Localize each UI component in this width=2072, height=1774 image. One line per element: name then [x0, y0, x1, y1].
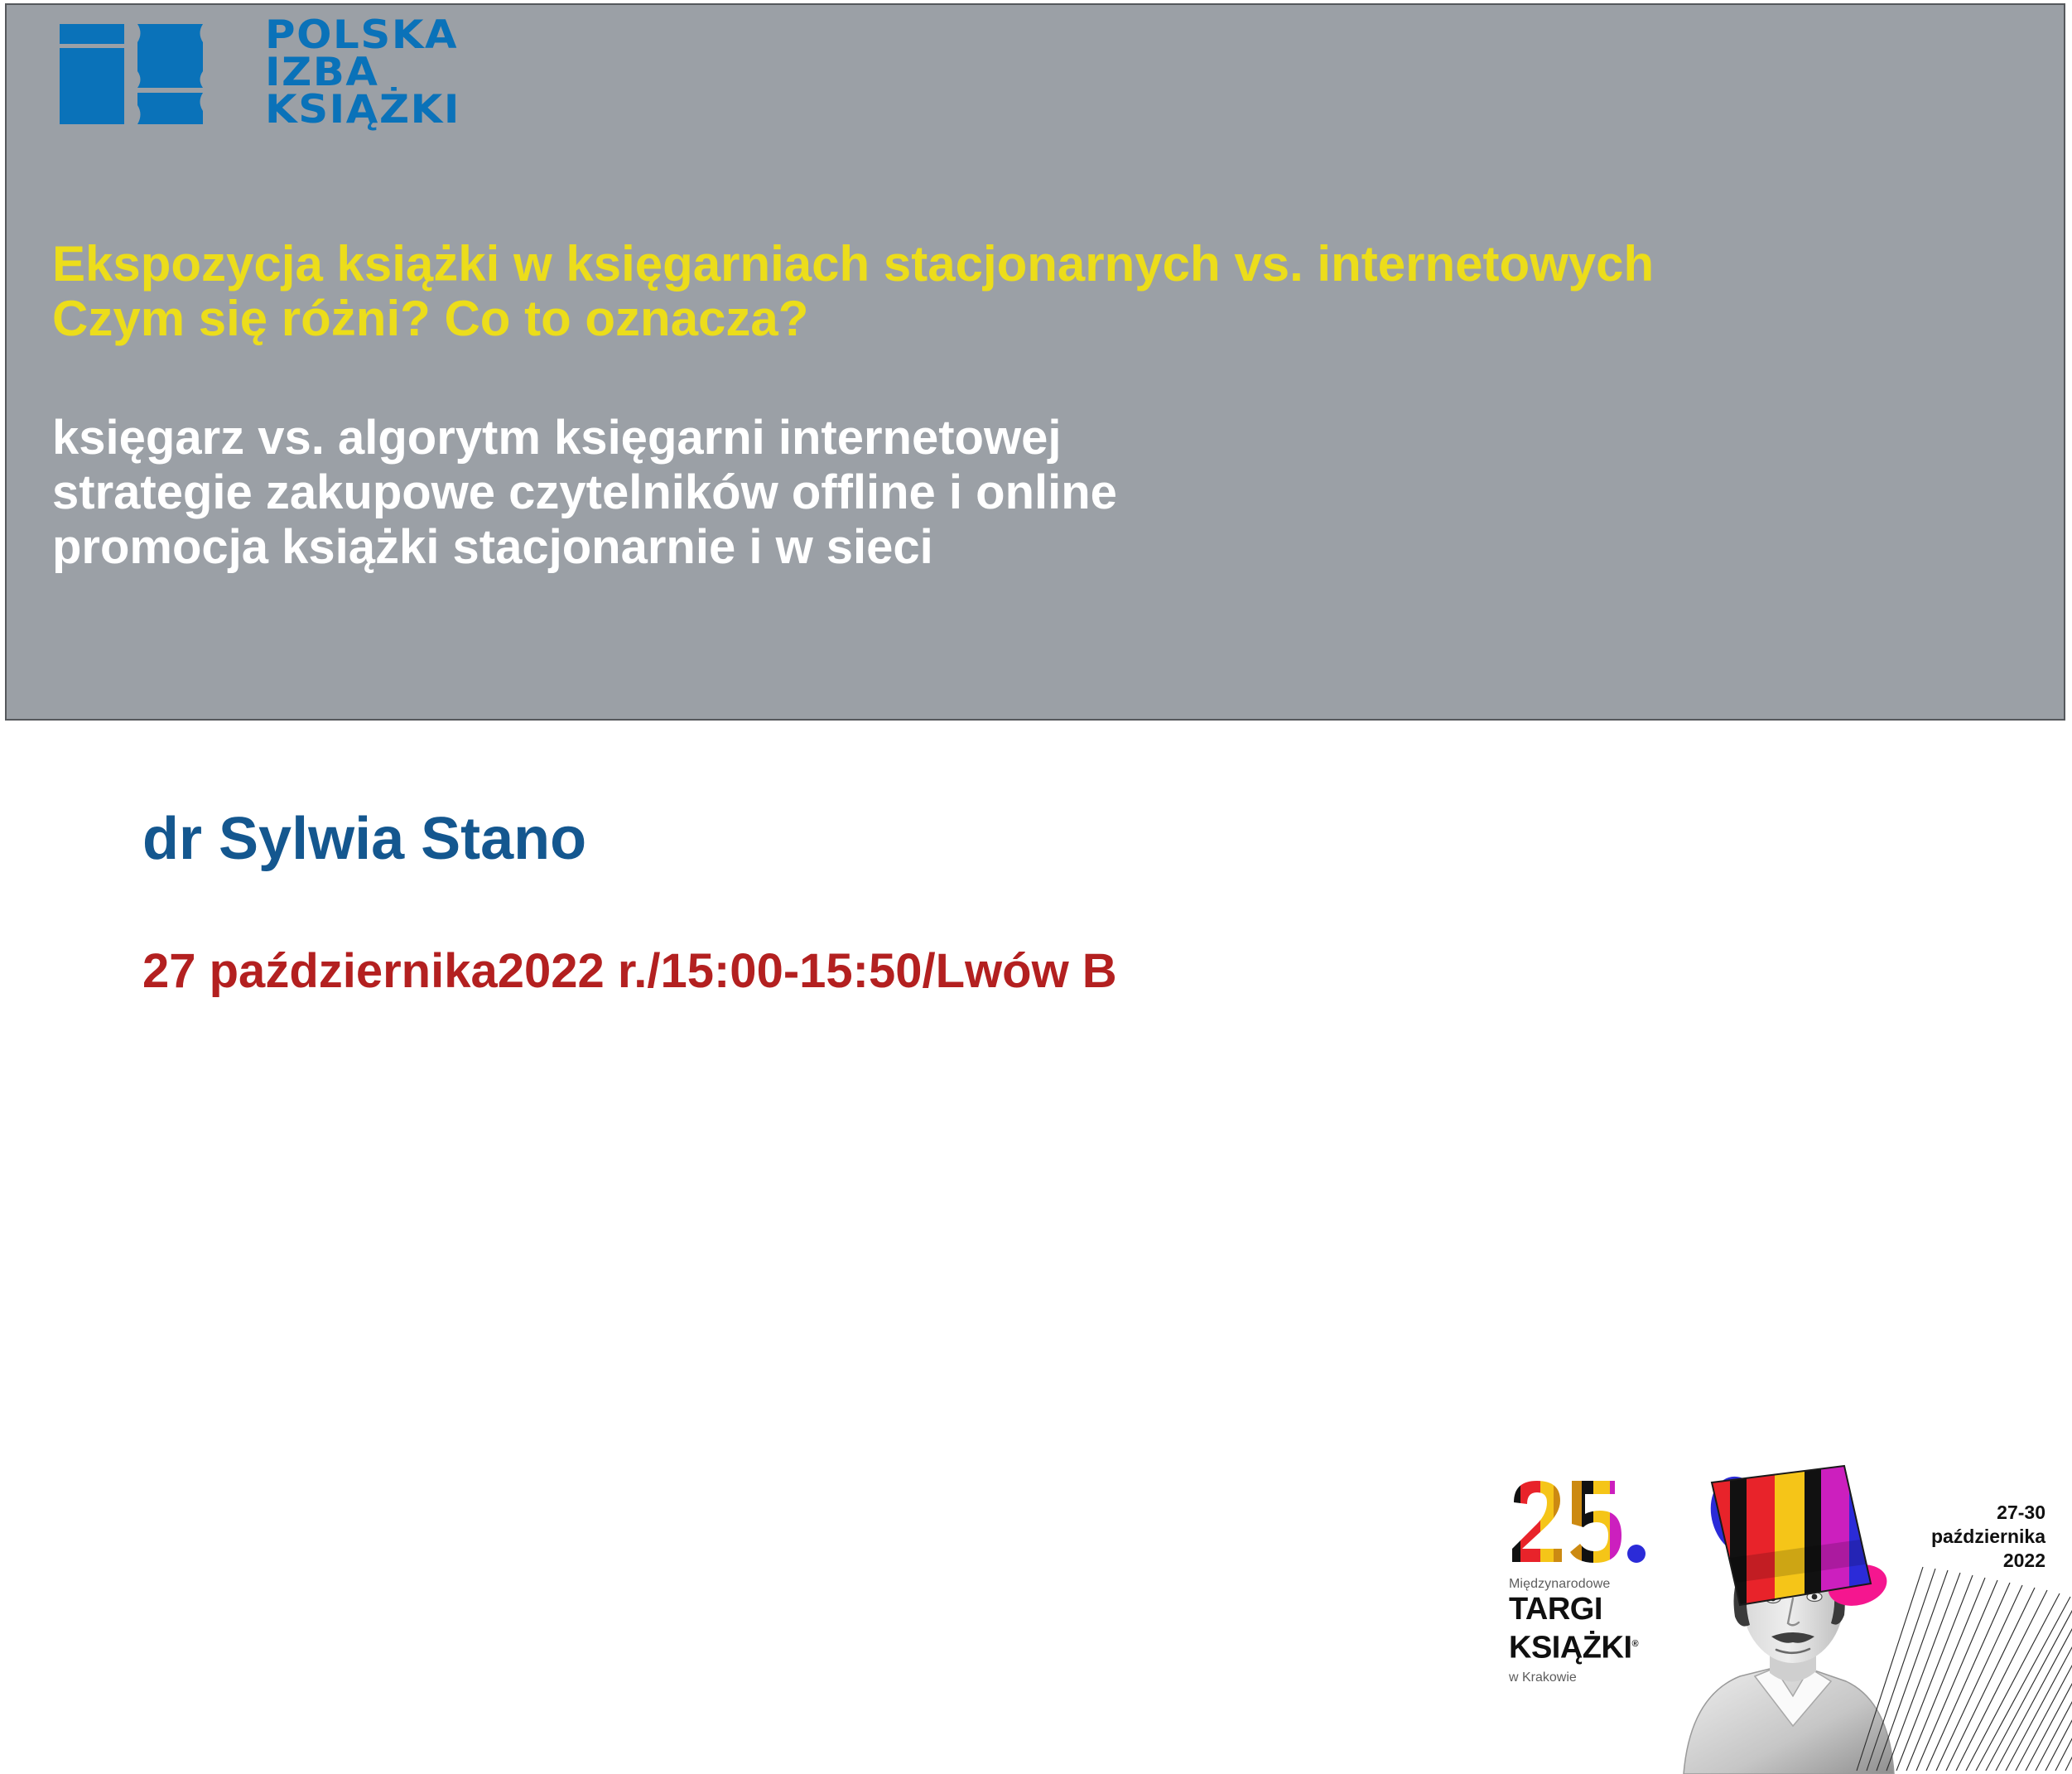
logo-line-2: IZBA	[265, 54, 677, 91]
speaker-name: dr Sylwia Stano	[142, 807, 586, 870]
book-pages-fan-icon	[1853, 1550, 2072, 1774]
fair-date-days: 27-30	[1931, 1501, 2045, 1525]
targi-ksiazki-logo: Międzynarodowe TARGI KSIĄŻKI® w Krakowie…	[1499, 1459, 2072, 1774]
headline-line-1: Ekspozycja książki w księgarniach stacjo…	[52, 237, 2056, 292]
slide-text-block: Ekspozycja książki w księgarniach stacjo…	[52, 237, 2056, 575]
book-mark-icon	[58, 20, 248, 128]
body-line-2: strategie zakupowe czytelników offline i…	[52, 465, 2056, 520]
edition-25-icon	[1509, 1478, 1666, 1565]
registered-mark: ®	[1632, 1639, 1639, 1649]
polska-izba-ksiazki-logo: POLSKA IZBA KSIĄŻKI	[58, 20, 654, 128]
logo-wordmark: POLSKA IZBA KSIĄŻKI	[265, 17, 654, 133]
fair-date-month: października	[1931, 1525, 2045, 1549]
talk-datetime-location: 27 października2022 r./15:00-15:50/Lwów …	[142, 946, 1117, 997]
logo-line-3: KSIĄŻKI	[265, 91, 677, 128]
body-text: księgarz vs. algorytm księgarni internet…	[52, 411, 2056, 575]
footer-area: dr Sylwia Stano 27 października2022 r./1…	[0, 722, 2072, 1052]
body-line-1: księgarz vs. algorytm księgarni internet…	[52, 411, 2056, 465]
headline-line-2: Czym się różni? Co to oznacza?	[52, 292, 2056, 346]
content-panel: POLSKA IZBA KSIĄŻKI Ekspozycja książki w…	[5, 3, 2065, 721]
fair-title-line-2-text: KSIĄŻKI	[1509, 1631, 1632, 1666]
logo-line-1: POLSKA	[265, 17, 677, 54]
body-line-3: promocja książki stacjonarnie i w sieci	[52, 520, 2056, 575]
